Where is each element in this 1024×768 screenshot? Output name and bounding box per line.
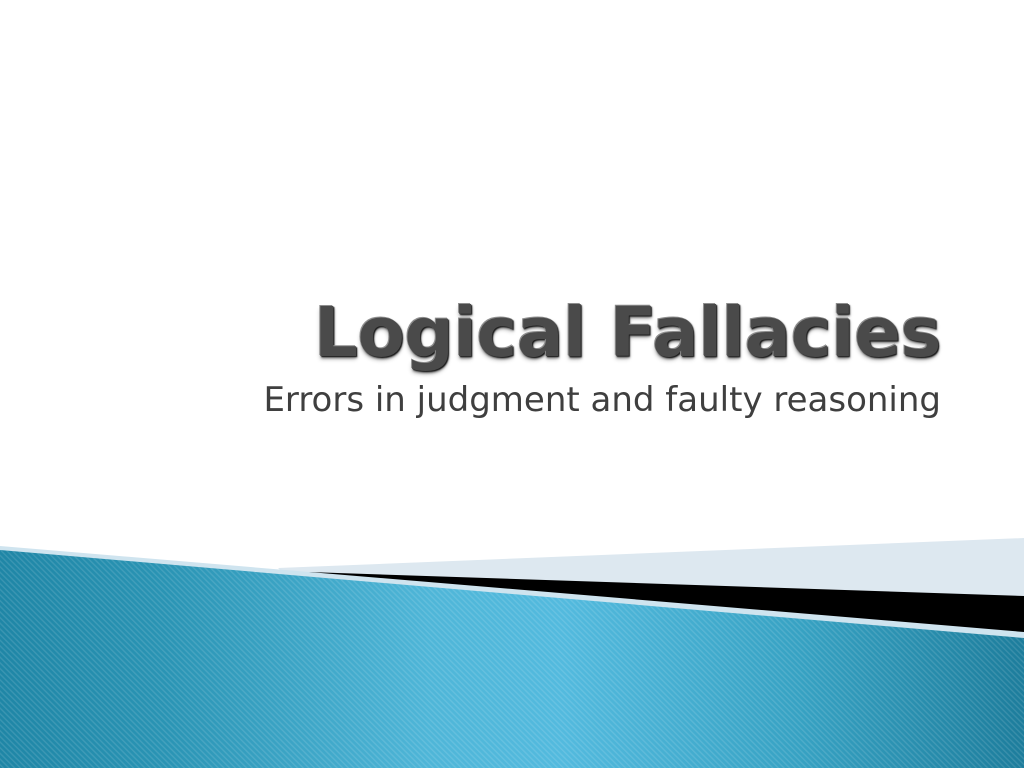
black-band xyxy=(308,572,1024,656)
teal-band xyxy=(0,550,1024,768)
presentation-slide: Logical Fallacies Errors in judgment and… xyxy=(0,0,1024,768)
page-subtitle: Errors in judgment and faulty reasoning xyxy=(0,381,941,420)
decorative-bands-svg xyxy=(0,528,1024,768)
teal-band-texture xyxy=(0,528,1024,768)
teal-band-outline xyxy=(0,546,1024,642)
decorative-bands xyxy=(0,528,1024,768)
page-title: Logical Fallacies xyxy=(0,296,941,371)
light-blue-band xyxy=(278,538,1024,600)
title-block: Logical Fallacies Errors in judgment and… xyxy=(0,296,941,420)
